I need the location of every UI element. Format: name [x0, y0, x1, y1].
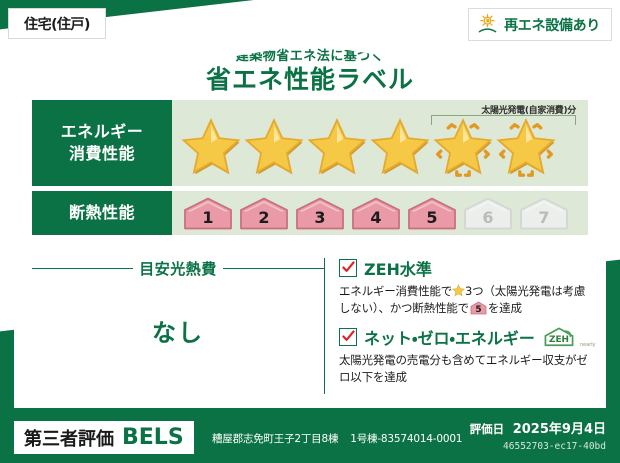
rule-right — [223, 268, 324, 269]
svg-text:ZEH: ZEH — [549, 335, 569, 345]
inline-star-icon — [452, 284, 465, 297]
claim-net-zero-body: 太陽光発電の売電分も含めてエネルギー収支がゼロ以下を達成 — [339, 352, 596, 385]
star-solar — [432, 116, 494, 178]
insulation-performance-row: 断熱性能 1234567 — [32, 191, 588, 235]
star-filled — [306, 116, 368, 178]
inline-grade-badge: 5 — [470, 301, 487, 315]
claim-zeh-body-pre: エネルギー消費性能で — [339, 284, 452, 298]
renewable-equipment-badge: 再エネ設備あり — [468, 8, 612, 41]
insulation-grade-7: 7 — [518, 196, 570, 231]
claim-zeh-standard: ZEH水準 エネルギー消費性能で3つ（太陽光発電は考慮しない）、かつ断熱性能で5… — [339, 256, 596, 316]
claim-net-zero-head: ネット・ゼロ・エネルギー ZEH nearly — [339, 325, 596, 349]
building-type-tag: 住宅(住戸) — [8, 8, 106, 39]
utility-cost-block: 目安光熱費 なし — [32, 252, 324, 400]
document-uid: 46552703-ec17-40bd — [503, 441, 606, 452]
solar-sun-icon — [476, 13, 499, 36]
insulation-grade-list: 1234567 — [182, 196, 570, 231]
utility-cost-title: 目安光熱費 — [139, 258, 217, 279]
title-block: 建築物省エネ法に基づく 省エネ性能ラベル — [14, 50, 606, 95]
insulation-grade-6: 6 — [462, 196, 514, 231]
inline-grade-value: 5 — [470, 306, 487, 315]
evaluation-date-block: 評価日 2025年9月4日 — [470, 418, 606, 437]
insulation-grade-1: 1 — [182, 196, 234, 231]
evaluation-date-label: 評価日 — [470, 422, 505, 436]
energy-performance-label: エネルギー 消費性能 — [32, 100, 172, 186]
claim-zeh-body-post: を達成 — [488, 301, 522, 315]
star-filled — [243, 116, 305, 178]
net-zero-checkbox[interactable] — [339, 328, 357, 346]
claim-net-zero-energy: ネット・ゼロ・エネルギー ZEH nearly 太陽光発電の売電分も含めてエネル… — [339, 325, 596, 385]
property-address: 糟屋郡志免町王子2丁目8棟 — [212, 431, 338, 446]
property-address-row: 糟屋郡志免町王子2丁目8棟 1号棟-83574014-0001 — [212, 431, 462, 446]
footer-bar: 第三者評価 BELS 糟屋郡志免町王子2丁目8棟 1号棟-83574014-00… — [0, 408, 620, 463]
energy-label-line1: エネルギー — [61, 121, 144, 143]
bels-logo-text: BELS — [122, 425, 184, 450]
rule-left — [32, 268, 133, 269]
insulation-grades-panel: 1234567 — [172, 191, 588, 235]
insulation-grade-5: 5 — [406, 196, 458, 231]
third-party-label: 第三者評価 — [24, 425, 114, 451]
insulation-grade-2: 2 — [238, 196, 290, 231]
star-filled — [180, 116, 242, 178]
insulation-grade-4: 4 — [350, 196, 402, 231]
evaluation-date-value: 2025年9月4日 — [513, 422, 606, 437]
insulation-grade-value: 6 — [462, 208, 514, 227]
insulation-grade-value: 1 — [182, 208, 234, 227]
star-filled — [369, 116, 431, 178]
claim-zeh-standard-body: エネルギー消費性能で3つ（太陽光発電は考慮しない）、かつ断熱性能で5を達成 — [339, 283, 596, 316]
insulation-grade-value: 2 — [238, 208, 290, 227]
performance-rows: エネルギー 消費性能 太陽光発電(自家消費)分 断熱性能 1234567 — [32, 100, 588, 240]
claim-net-zero-title: ネット・ゼロ・エネルギー — [364, 325, 535, 349]
renewable-badge-label: 再エネ設備あり — [504, 15, 600, 35]
building-type-label: 住宅(住戸) — [24, 14, 90, 34]
insulation-grade-value: 5 — [406, 208, 458, 227]
claim-zeh-standard-head: ZEH水準 — [339, 256, 596, 280]
bels-certification-box: 第三者評価 BELS — [14, 421, 194, 454]
zeh-logo-icon: ZEH — [542, 327, 576, 347]
insulation-grade-value: 3 — [294, 208, 346, 227]
insulation-performance-label: 断熱性能 — [32, 191, 172, 235]
insulation-grade-3: 3 — [294, 196, 346, 231]
insulation-grade-value: 4 — [350, 208, 402, 227]
energy-label-root: 住宅(住戸) 再エネ設備あり 建築物省エネ法に基づく 省エネ性能ラベル — [0, 0, 620, 463]
page-title: 省エネ性能ラベル — [14, 65, 606, 95]
building-number: 1号棟-83574014-0001 — [350, 431, 462, 446]
utility-cost-heading: 目安光熱費 — [32, 258, 324, 279]
label-card: 建築物省エネ法に基づく 省エネ性能ラベル エネルギー 消費性能 太陽光発電(自家… — [14, 44, 606, 408]
star-solar — [495, 116, 557, 178]
bottom-section: 目安光熱費 なし ZEH水準 — [32, 252, 588, 400]
insulation-label-text: 断熱性能 — [69, 202, 135, 224]
insulation-grade-value: 7 — [518, 208, 570, 227]
claim-zeh-standard-title: ZEH水準 — [364, 256, 432, 280]
check-icon — [341, 329, 356, 344]
zeh-logo-subtext: nearly — [580, 342, 596, 348]
label-subtitle: 建築物省エネ法に基づく — [14, 50, 606, 64]
energy-performance-row: エネルギー 消費性能 太陽光発電(自家消費)分 — [32, 100, 588, 186]
claims-block: ZEH水準 エネルギー消費性能で3つ（太陽光発電は考慮しない）、かつ断熱性能で5… — [325, 252, 596, 400]
energy-label-line2: 消費性能 — [69, 143, 135, 165]
zeh-standard-checkbox[interactable] — [339, 259, 357, 277]
energy-star-rating — [180, 116, 580, 178]
utility-cost-value: なし — [32, 313, 324, 348]
energy-stars-panel: 太陽光発電(自家消費)分 — [172, 100, 588, 186]
check-icon — [341, 260, 356, 275]
